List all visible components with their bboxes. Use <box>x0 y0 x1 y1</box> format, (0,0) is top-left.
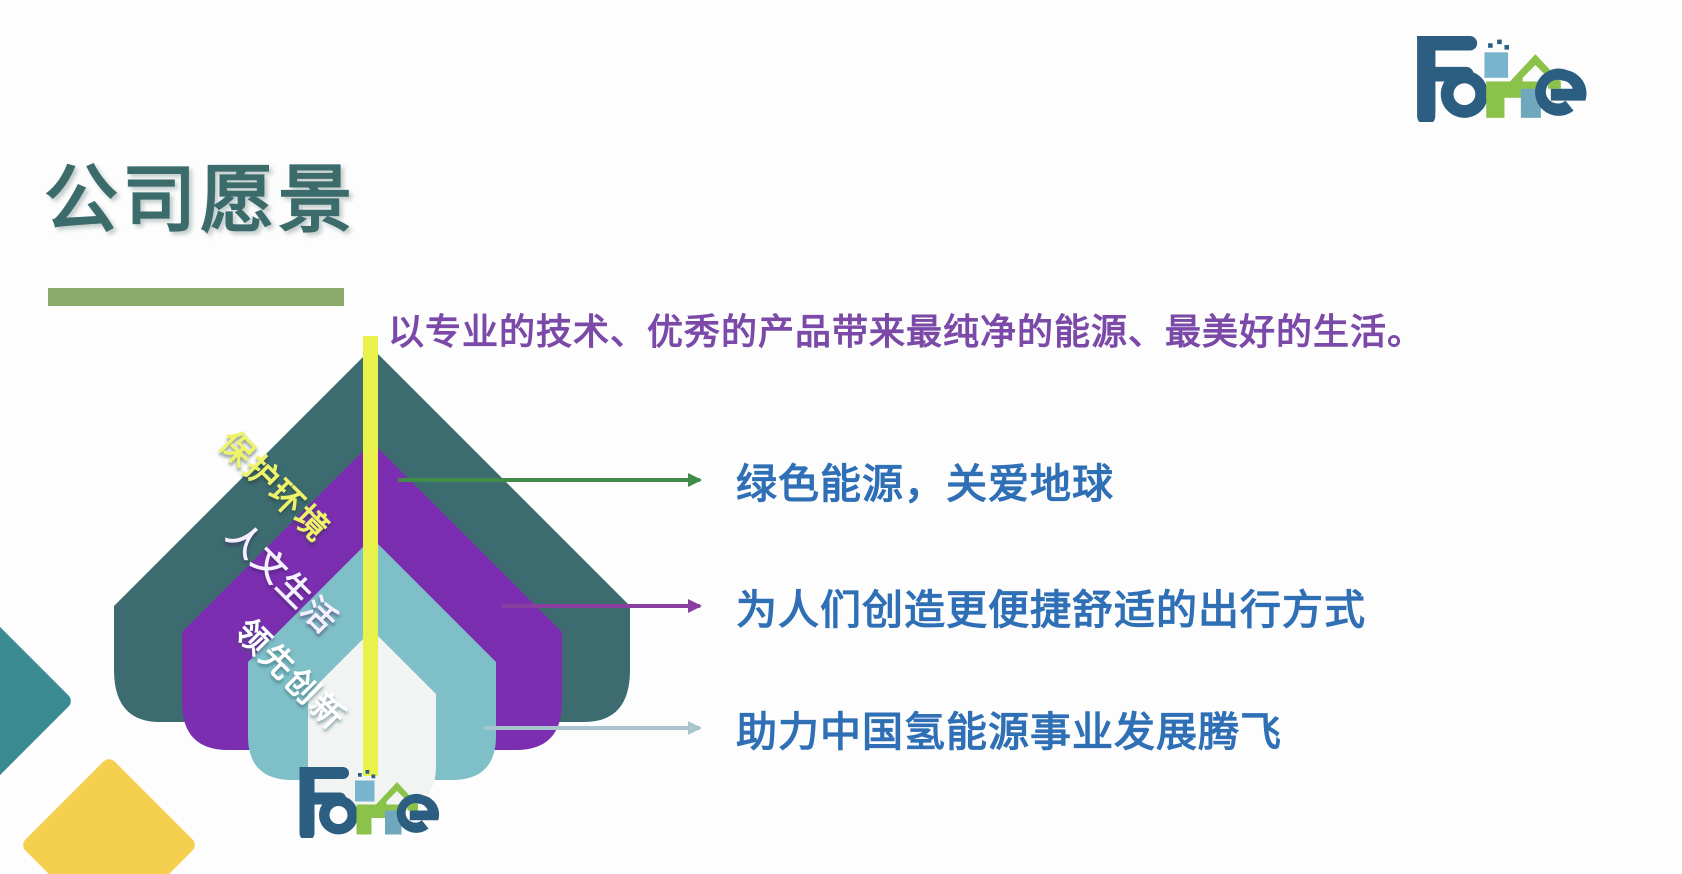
connector-line <box>398 478 700 482</box>
connector-line <box>484 726 700 730</box>
vision-point-row: 助力中国氢能源事业发展腾飞 <box>484 700 1282 756</box>
slide-canvas: 公司愿景 以专业的技术、优秀的产品带来最纯净的能源、最美好的生活。 保护环境 人… <box>0 0 1682 874</box>
connector-arrow-icon <box>502 604 700 608</box>
title-underline-rule <box>48 288 344 306</box>
connector-arrow-icon <box>484 726 700 730</box>
brand-logo-emblem-icon <box>292 762 442 838</box>
connector-line <box>502 604 700 608</box>
connector-arrow-icon <box>398 478 700 482</box>
vision-point-row: 绿色能源，关爱地球 <box>398 452 1114 508</box>
vision-point-text: 为人们创造更便捷舒适的出行方式 <box>736 576 1366 636</box>
vision-point-row: 为人们创造更便捷舒适的出行方式 <box>502 578 1366 634</box>
decorative-teal-diamond <box>0 612 74 790</box>
vision-point-text: 助力中国氢能源事业发展腾飞 <box>736 698 1282 758</box>
page-title: 公司愿景 <box>44 140 356 247</box>
brand-logo-icon <box>1408 30 1590 122</box>
vision-point-text: 绿色能源，关爱地球 <box>736 450 1114 510</box>
